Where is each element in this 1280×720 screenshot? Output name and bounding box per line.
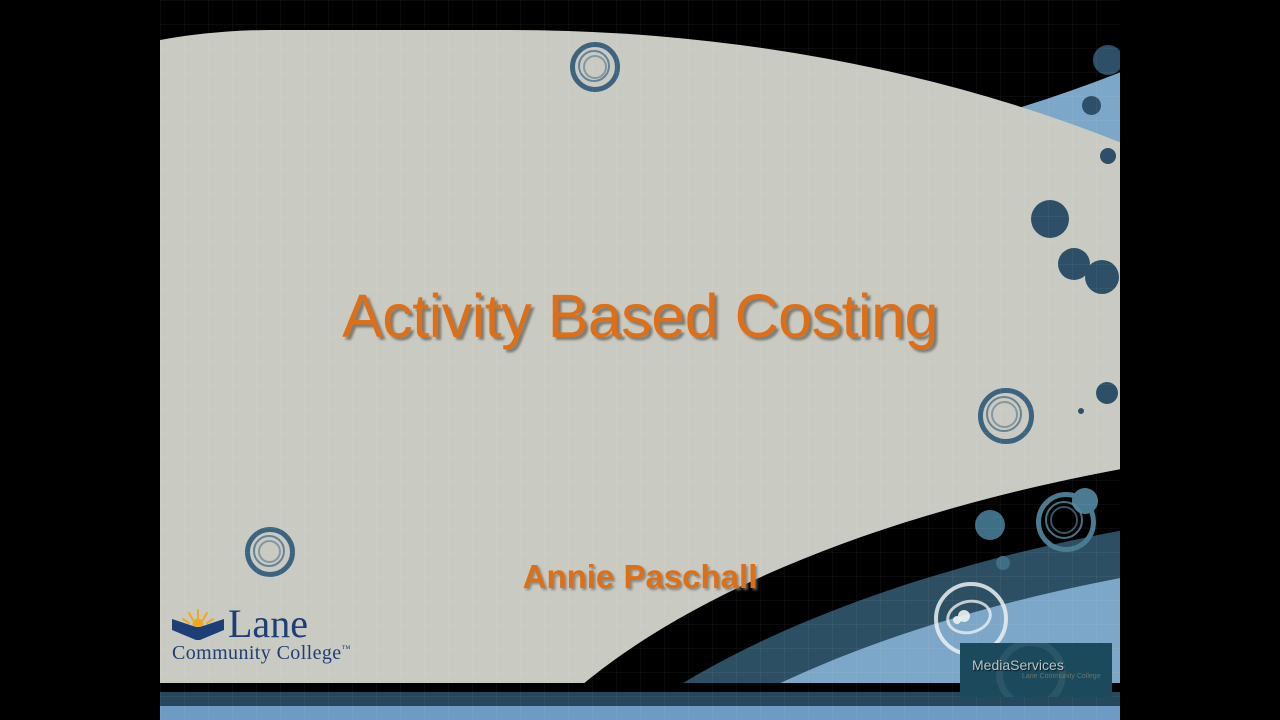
- lane-community-college-logo: Lane Community College™: [170, 608, 380, 670]
- decor-ring: [978, 388, 1038, 448]
- decor-dot: [1093, 45, 1120, 75]
- lane-subtitle-text: Community College: [172, 642, 342, 664]
- media-services-watermark: MediaServices Lane Community College: [960, 643, 1112, 697]
- decor-dot: [1096, 382, 1118, 404]
- decor-dot: [975, 510, 1005, 540]
- lane-subtitle: Community College™: [172, 642, 351, 665]
- media-services-label: MediaServices: [972, 657, 1064, 673]
- bottom-blue-strip: [160, 706, 1120, 720]
- slide-title: Activity Based Costing: [160, 281, 1120, 351]
- presenter-name: Annie Paschall: [160, 558, 1120, 596]
- decor-dot: [1078, 408, 1084, 414]
- lane-wordmark: Lane: [228, 604, 308, 644]
- trademark-symbol: ™: [342, 643, 351, 653]
- decor-ring: [1036, 492, 1098, 554]
- lane-book-sunrise-icon: [170, 608, 226, 642]
- media-services-sublabel: Lane Community College: [1022, 673, 1101, 680]
- presentation-slide: Activity Based Costing Annie Paschall La…: [160, 0, 1120, 720]
- decor-ring: [570, 42, 620, 92]
- video-player-frame: Activity Based Costing Annie Paschall La…: [0, 0, 1280, 720]
- decor-dot: [1100, 148, 1116, 164]
- decor-dot: [1031, 200, 1069, 238]
- decor-dot: [1082, 96, 1101, 115]
